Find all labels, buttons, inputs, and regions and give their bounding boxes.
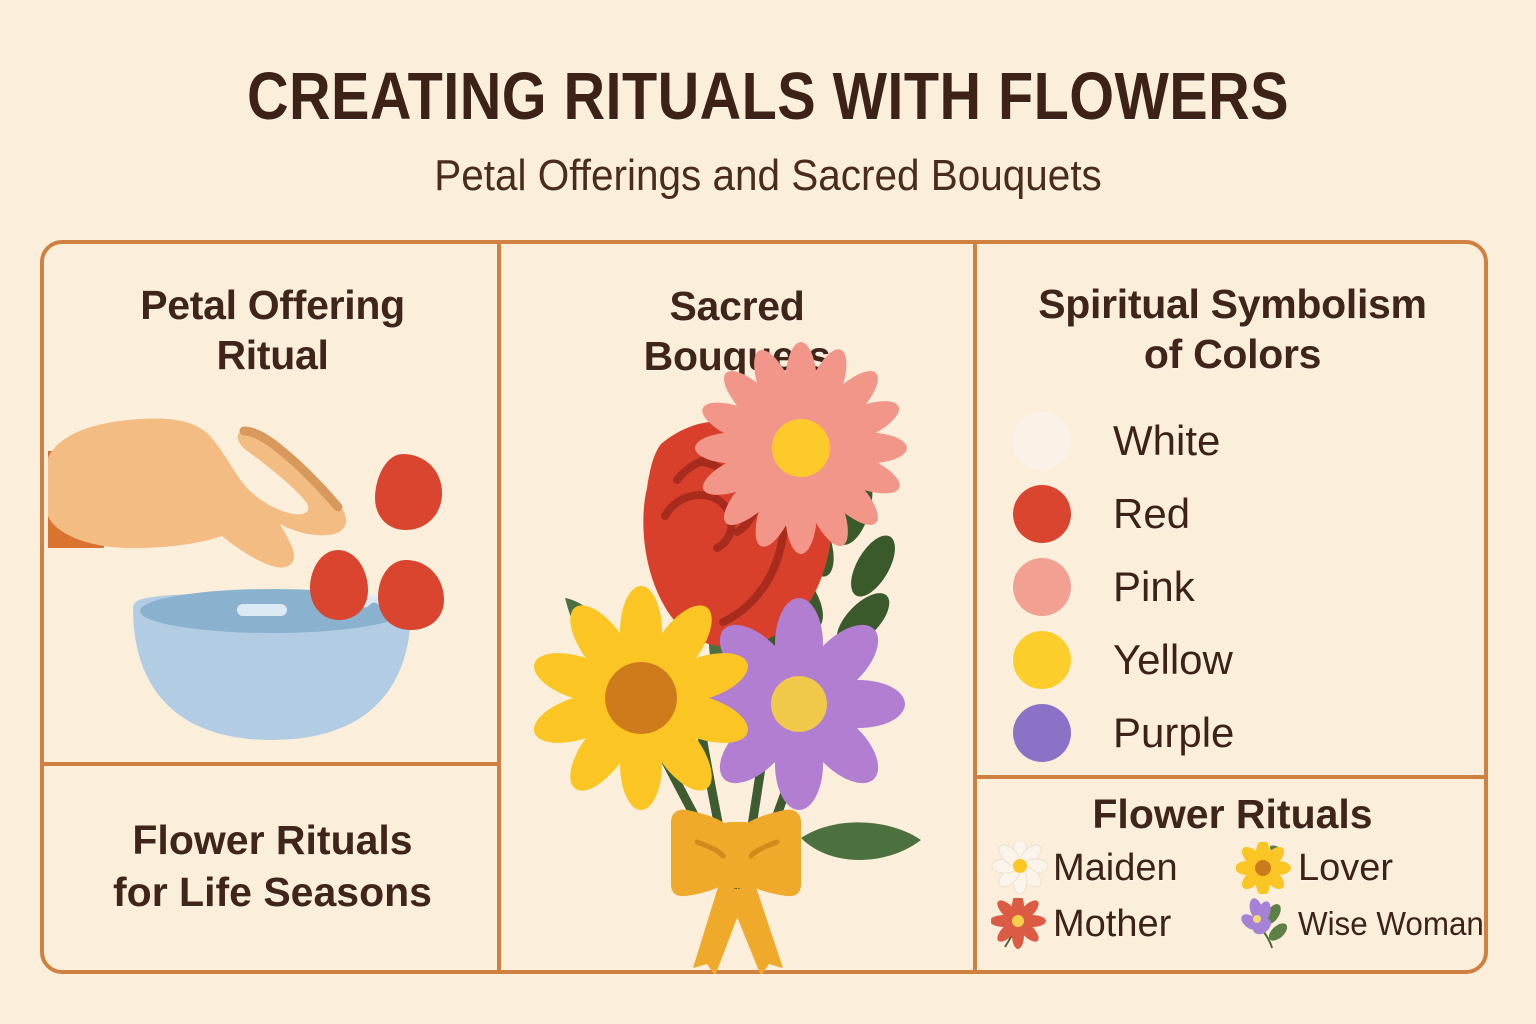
red-flower-icon	[991, 898, 1049, 950]
swatch-yellow-icon	[1013, 631, 1071, 689]
panel-flower-rituals-life-seasons: Flower Rituals for Life Seasons	[48, 766, 497, 974]
page-subtitle: Petal Offerings and Sacred Bouquets	[61, 135, 1474, 201]
archetype-item-mother[interactable]: Mother	[991, 896, 1236, 952]
panel-flower-rituals-archetypes: Flower Rituals	[977, 779, 1488, 974]
archetype-label-wise-woman: Wise Woman	[1298, 905, 1484, 943]
bouquet-illustration	[501, 248, 973, 974]
water-bowl-icon	[133, 589, 411, 740]
legend-label-red: Red	[1113, 490, 1190, 538]
yellow-sunflower-icon	[1236, 842, 1294, 894]
legend-item-white[interactable]: White	[1013, 404, 1234, 477]
legend-label-white: White	[1113, 417, 1220, 465]
header: CREATING RITUALS WITH FLOWERS Petal Offe…	[0, 0, 1536, 201]
ribbon-bow-icon	[671, 810, 801, 974]
infographic-page: CREATING RITUALS WITH FLOWERS Petal Offe…	[0, 0, 1536, 1024]
panel-spiritual-symbolism: Spiritual Symbolism of Colors White Red …	[977, 248, 1488, 775]
pink-daisy-icon	[695, 342, 907, 554]
bottom-left-line1: Flower Rituals	[48, 814, 497, 866]
legend-item-yellow[interactable]: Yellow	[1013, 623, 1234, 696]
archetype-item-lover[interactable]: Lover	[1236, 840, 1491, 896]
legend-item-purple[interactable]: Purple	[1013, 696, 1234, 769]
color-legend: White Red Pink Yellow Purple	[1013, 404, 1234, 769]
panel-sacred-bouquets: Sacred Bouquets	[501, 248, 973, 974]
purple-violet-icon	[1236, 898, 1294, 950]
bottom-left-text: Flower Rituals for Life Seasons	[48, 766, 497, 919]
legend-item-red[interactable]: Red	[1013, 477, 1234, 550]
purple-daisy-icon	[693, 598, 905, 810]
bottom-right-title: Flower Rituals	[977, 779, 1488, 838]
legend-label-yellow: Yellow	[1113, 636, 1233, 684]
legend-label-pink: Pink	[1113, 563, 1195, 611]
swatch-purple-icon	[1013, 704, 1071, 762]
legend-item-pink[interactable]: Pink	[1013, 550, 1234, 623]
white-daisy-icon	[991, 842, 1049, 894]
archetype-grid: Maiden	[977, 840, 1488, 952]
swatch-pink-icon	[1013, 558, 1071, 616]
archetype-label-mother: Mother	[1053, 903, 1171, 946]
swatch-red-icon	[1013, 485, 1071, 543]
archetype-label-lover: Lover	[1298, 847, 1393, 890]
panel-right-heading-line1: Spiritual Symbolism	[977, 279, 1488, 329]
page-title: CREATING RITUALS WITH FLOWERS	[108, 0, 1429, 135]
hand-dropping-petals-illustration	[48, 248, 497, 762]
panel-petal-offering-ritual: Petal Offering Ritual	[48, 248, 497, 762]
swatch-white-icon	[1013, 412, 1071, 470]
bottom-left-line2: for Life Seasons	[48, 866, 497, 918]
archetype-item-maiden[interactable]: Maiden	[991, 840, 1236, 896]
panel-right-heading: Spiritual Symbolism of Colors	[977, 248, 1488, 379]
panel-right-heading-line2: of Colors	[977, 329, 1488, 379]
legend-label-purple: Purple	[1113, 709, 1234, 757]
archetype-label-maiden: Maiden	[1053, 847, 1178, 890]
archetype-item-wise-woman[interactable]: Wise Woman	[1236, 896, 1491, 952]
content-frame: Petal Offering Ritual	[40, 240, 1488, 974]
